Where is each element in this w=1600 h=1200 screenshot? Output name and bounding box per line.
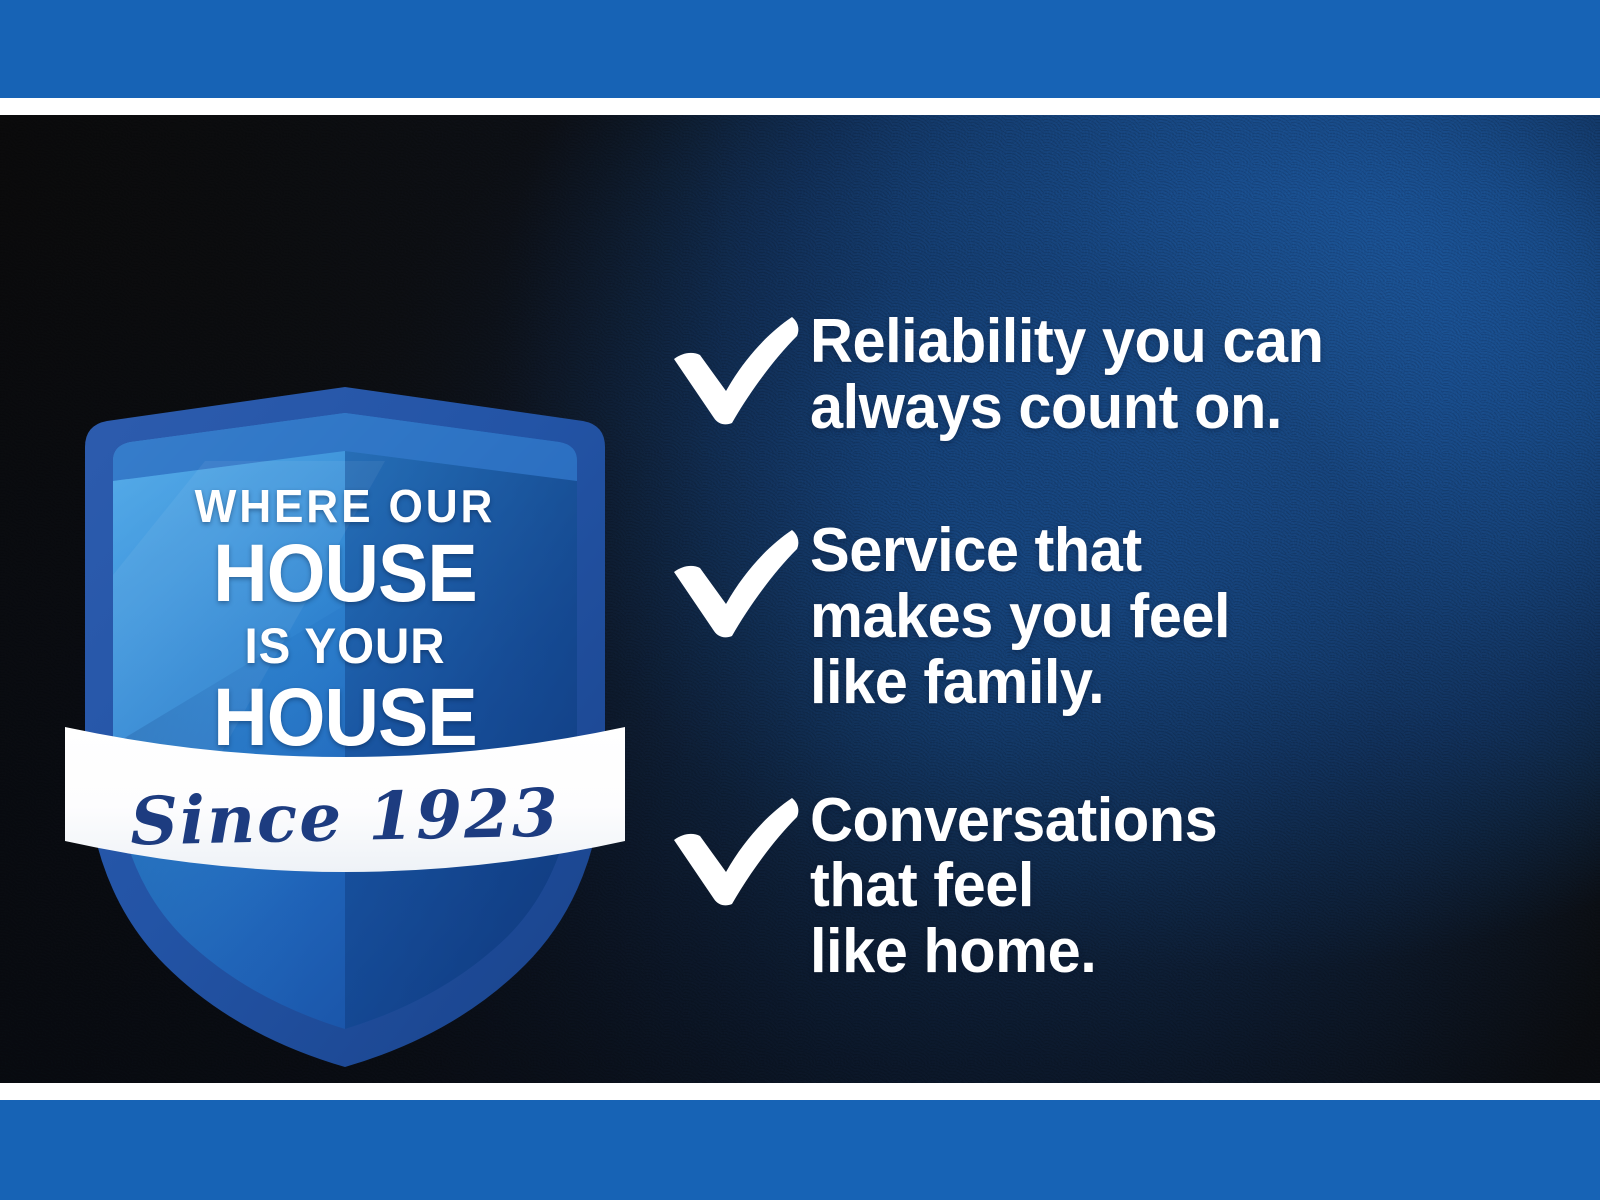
list-item: Conversations that feel like home. <box>660 788 1560 985</box>
list-item-text: Conversations that feel like home. <box>810 788 1217 985</box>
top-white-divider <box>0 98 1600 115</box>
check-icon <box>668 526 803 641</box>
list-item-text: Reliability you can always count on. <box>810 309 1323 440</box>
benefits-list: Reliability you can always count on. Ser… <box>660 285 1560 985</box>
badge-line-3: IS YOUR <box>70 617 621 675</box>
check-icon <box>668 313 803 428</box>
badge-line-4: HOUSE <box>78 671 612 765</box>
main-panel: WHERE OUR HOUSE IS YOUR HOUSE Since 1923… <box>0 115 1600 1085</box>
check-icon-wrap <box>660 309 810 429</box>
top-brand-bar <box>0 0 1600 98</box>
badge-line-2: HOUSE <box>78 527 612 621</box>
bottom-brand-bar <box>0 1100 1600 1200</box>
list-item-text: Service that makes you feel like family. <box>810 518 1230 715</box>
list-item: Reliability you can always count on. <box>660 309 1560 440</box>
check-icon-wrap <box>660 518 810 638</box>
shield-badge: WHERE OUR HOUSE IS YOUR HOUSE Since 1923 <box>55 275 635 1075</box>
check-icon <box>668 794 803 909</box>
check-icon-wrap <box>660 788 810 908</box>
list-item: Service that makes you feel like family. <box>660 518 1560 715</box>
promo-graphic: WHERE OUR HOUSE IS YOUR HOUSE Since 1923… <box>0 0 1600 1200</box>
badge-line-1: WHERE OUR <box>67 479 624 533</box>
bottom-white-divider <box>0 1083 1600 1100</box>
badge-ribbon-text: Since 1923 <box>54 772 636 862</box>
